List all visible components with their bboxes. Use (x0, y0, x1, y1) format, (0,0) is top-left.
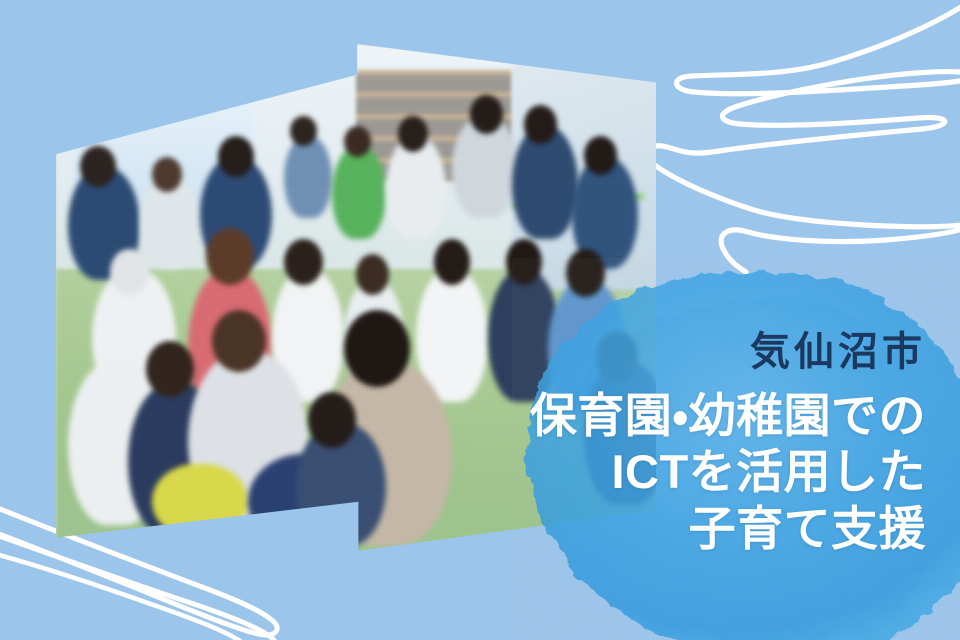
banner-root: 気仙沼市 保育園・幼稚園での ICTを活用した 子育て支援 (0, 0, 960, 640)
headline-line-1: 保育園・幼稚園での (406, 388, 926, 444)
headline-line-2: ICTを活用した (406, 444, 926, 500)
city-name: 気仙沼市 (406, 330, 926, 374)
headline: 保育園・幼稚園での ICTを活用した 子育て支援 (406, 388, 926, 557)
text-block: 気仙沼市 保育園・幼稚園での ICTを活用した 子育て支援 (406, 330, 926, 557)
headline-line-3: 子育て支援 (406, 501, 926, 557)
